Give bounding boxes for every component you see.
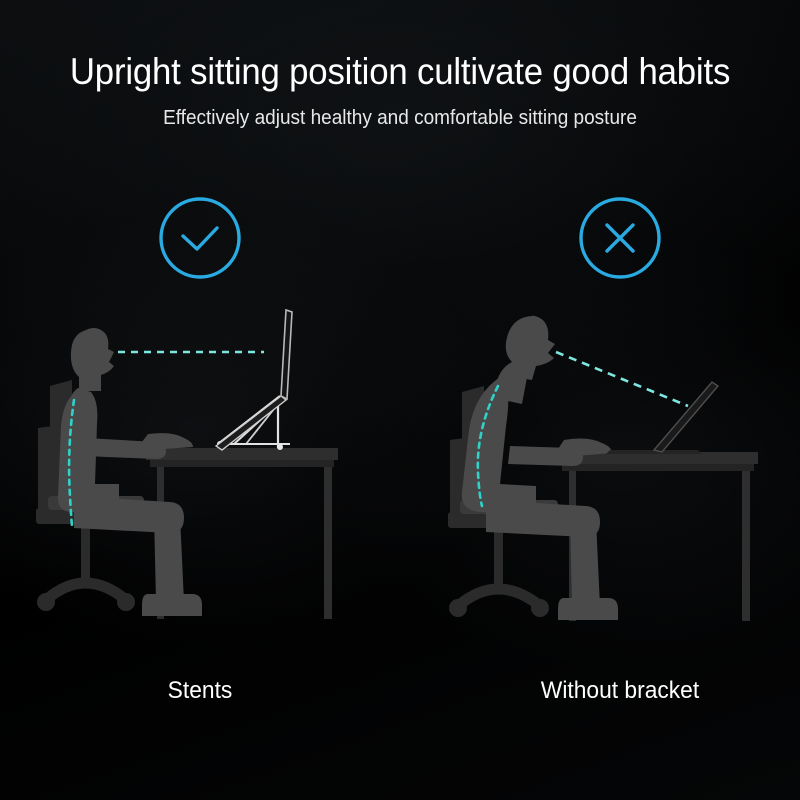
caption-correct-posture: Stents — [10, 676, 390, 706]
x-circle-icon — [576, 194, 664, 282]
illustration-incorrect-posture — [440, 300, 800, 640]
check-circle-icon — [156, 194, 244, 282]
laptop-flat — [606, 382, 718, 454]
laptop-elevated — [216, 310, 292, 450]
illustration-correct-posture — [28, 300, 388, 640]
infographic-page: Upright sitting position cultivate good … — [0, 0, 800, 800]
caption-incorrect-posture: Without bracket — [430, 676, 800, 706]
sight-line-downward — [556, 352, 688, 406]
page-title: Upright sitting position cultivate good … — [24, 50, 776, 94]
person-silhouette-upright — [58, 328, 202, 616]
page-subtitle: Effectively adjust healthy and comfortab… — [20, 105, 780, 131]
